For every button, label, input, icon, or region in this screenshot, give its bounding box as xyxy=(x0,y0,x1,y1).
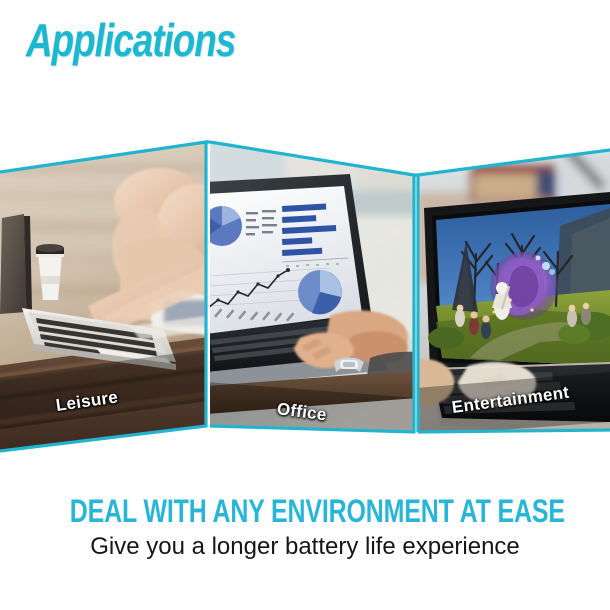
panel-band xyxy=(0,130,610,470)
page-title: Applications xyxy=(26,14,235,66)
panel-image-entertainment xyxy=(416,130,610,470)
panel-band-svg xyxy=(0,130,610,470)
footer-headline-text: DEAL WITH ANY ENVIRONMENT AT EASE xyxy=(70,494,565,528)
applications-infographic: Applications xyxy=(0,0,610,610)
footer-headline: DEAL WITH ANY ENVIRONMENT AT EASE xyxy=(0,494,610,528)
footer-subline: Give you a longer battery life experienc… xyxy=(0,533,610,561)
panel-image-leisure xyxy=(0,130,236,470)
panel-image-office xyxy=(202,130,418,470)
